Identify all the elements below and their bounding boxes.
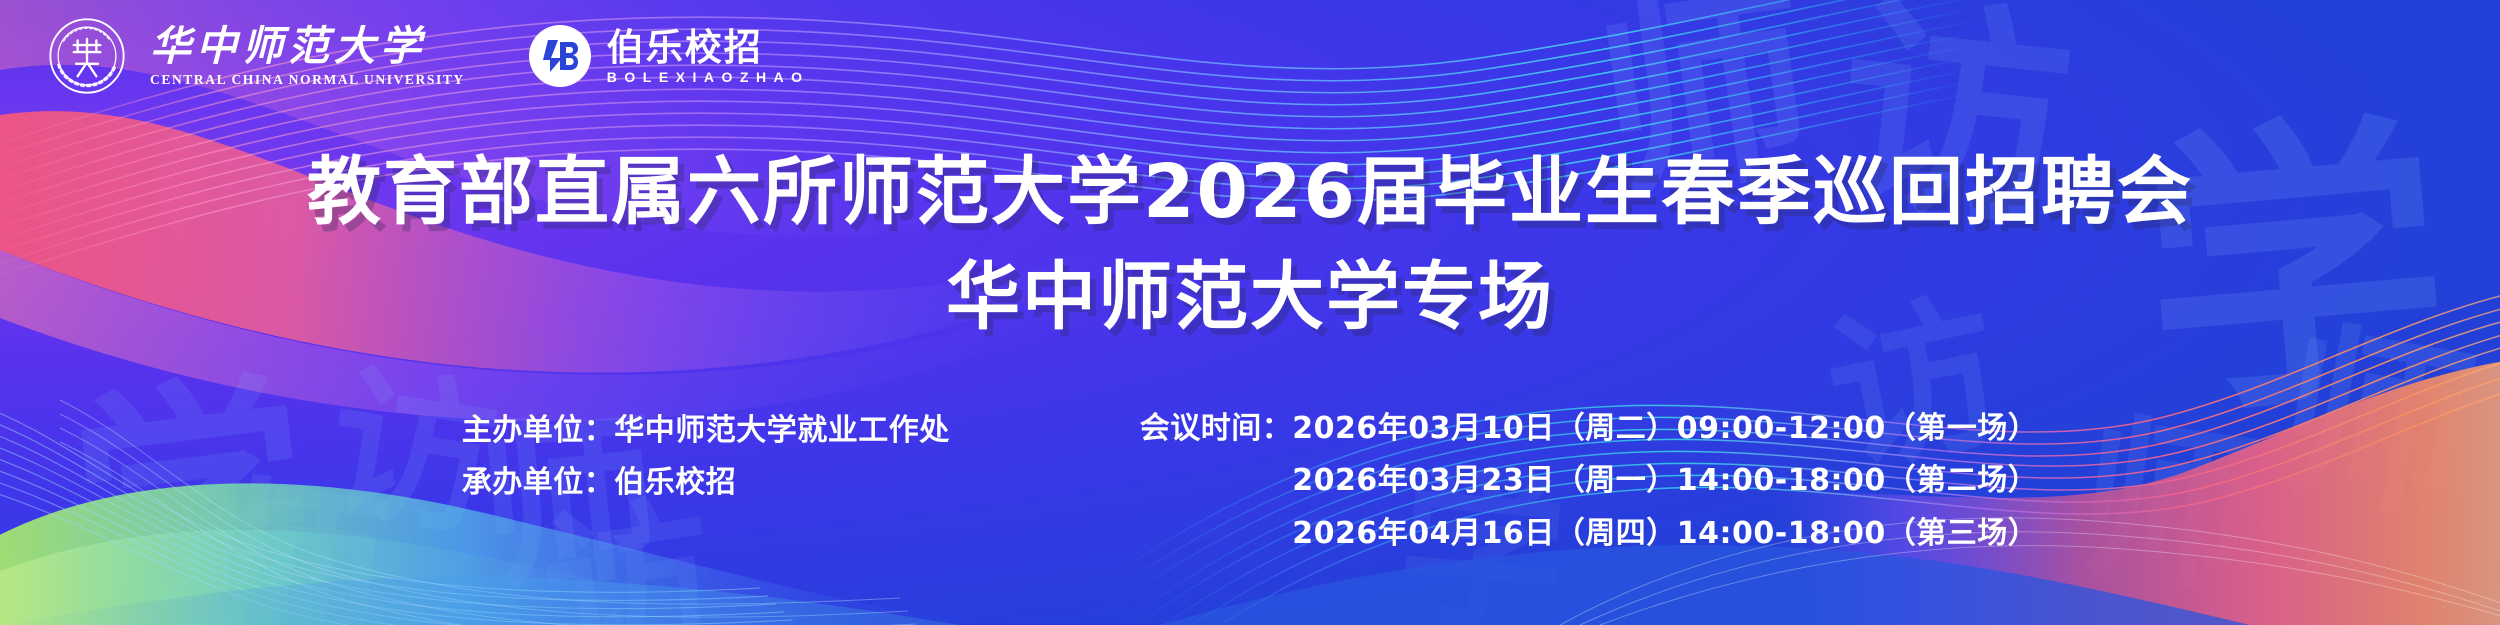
schedule-session-3: 2026年04月16日（周四）14:00-18:00（第三场） xyxy=(1292,515,2038,553)
university-name-cn: 华中师范大学 xyxy=(150,26,465,67)
co-organizer-line: 承办单位：伯乐校招 xyxy=(462,464,737,502)
ccnu-seal-icon xyxy=(48,17,126,95)
organizer-column: 主办单位：华中师范大学就业工作处 承办单位：伯乐校招 xyxy=(462,410,950,553)
schedule-session-1: 会议时间：2026年03月10日（周二）09:00-12:00（第一场） xyxy=(1140,410,2038,448)
info-block: 主办单位：华中师范大学就业工作处 承办单位：伯乐校招 会议时间：2026年03月… xyxy=(0,410,2500,553)
partner-name-block: 伯乐校招 BOLEXIAOZHAO xyxy=(607,29,810,84)
schedule-column: 会议时间：2026年03月10日（周二）09:00-12:00（第一场） 202… xyxy=(1140,410,2038,553)
recruitment-banner: 师访学师访师学访师师访学 xyxy=(0,0,2500,625)
partner-name-cn: 伯乐校招 xyxy=(607,29,810,66)
bole-monogram-icon xyxy=(529,25,591,87)
partner-logo-block: 伯乐校招 BOLEXIAOZHAO xyxy=(529,25,810,87)
schedule-session-2: 2026年03月23日（周一）14:00-18:00（第二场） xyxy=(1292,462,2038,500)
logo-bar: 华中师范大学 CENTRAL CHINA NORMAL UNIVERSITY 伯… xyxy=(48,14,810,98)
title-block: 教育部直属六所师范大学2026届毕业生春季巡回招聘会 华中师范大学专场 xyxy=(0,140,2500,350)
university-name-en: CENTRAL CHINA NORMAL UNIVERSITY xyxy=(150,73,465,87)
title-line-2: 华中师范大学专场 xyxy=(0,245,2500,350)
university-name-block: 华中师范大学 CENTRAL CHINA NORMAL UNIVERSITY xyxy=(150,26,465,87)
partner-name-en: BOLEXIAOZHAO xyxy=(607,70,810,84)
organizer-line: 主办单位：华中师范大学就业工作处 xyxy=(462,412,950,450)
title-line-1: 教育部直属六所师范大学2026届毕业生春季巡回招聘会 xyxy=(0,140,2500,245)
